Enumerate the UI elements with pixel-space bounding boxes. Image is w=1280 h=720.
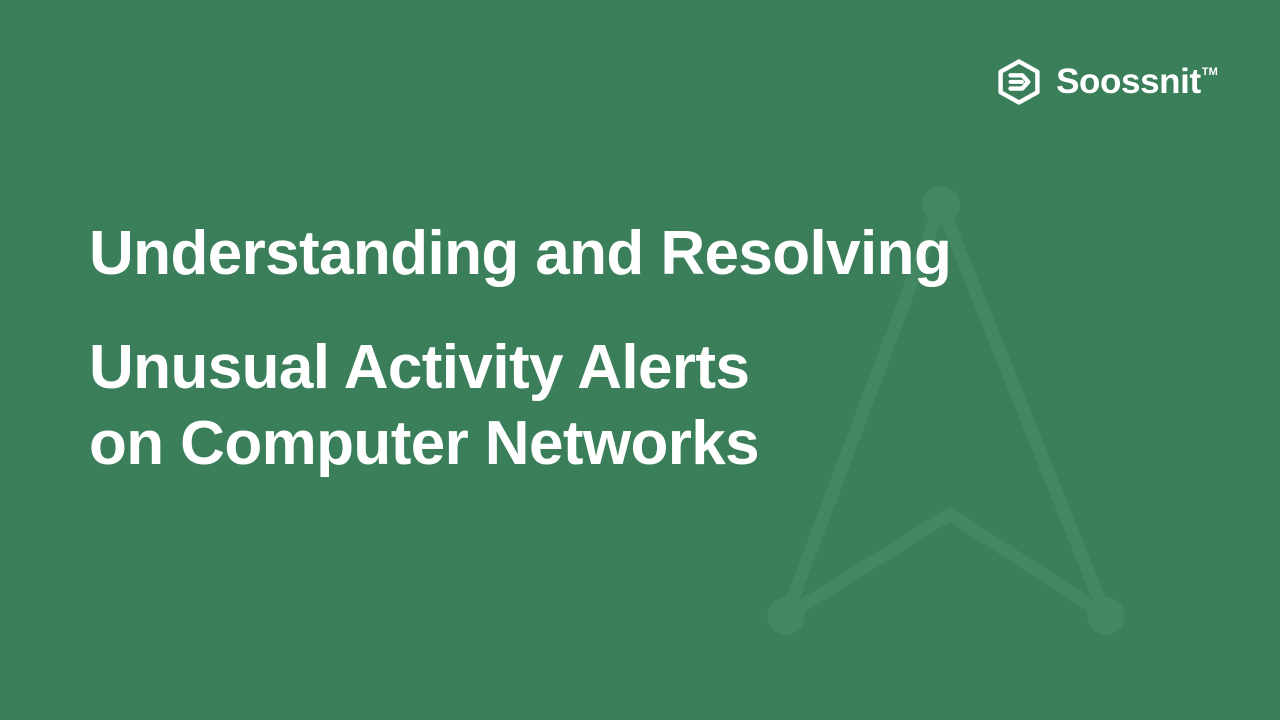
title-line-3: on Computer Networks — [89, 406, 1179, 482]
title-slide: Soossnit TM Understanding and Resolving … — [0, 0, 1280, 720]
brand-name-text: Soossnit — [1056, 59, 1201, 105]
title-line-1: Understanding and Resolving — [89, 216, 1179, 292]
watermark-node-bottom-left — [767, 597, 805, 635]
brand-logo[interactable]: Soossnit TM — [996, 58, 1218, 106]
watermark-node-bottom-right — [1087, 597, 1125, 635]
page-title: Understanding and Resolving Unusual Acti… — [89, 216, 1179, 482]
brand-wordmark: Soossnit TM — [1056, 59, 1218, 105]
hexagon-arrow-logo-icon — [996, 59, 1042, 105]
title-group-secondary: Unusual Activity Alerts on Computer Netw… — [89, 330, 1179, 482]
title-group-primary: Understanding and Resolving — [89, 216, 1179, 292]
title-line-2: Unusual Activity Alerts — [89, 330, 1179, 406]
brand-trademark-symbol: TM — [1202, 67, 1218, 78]
